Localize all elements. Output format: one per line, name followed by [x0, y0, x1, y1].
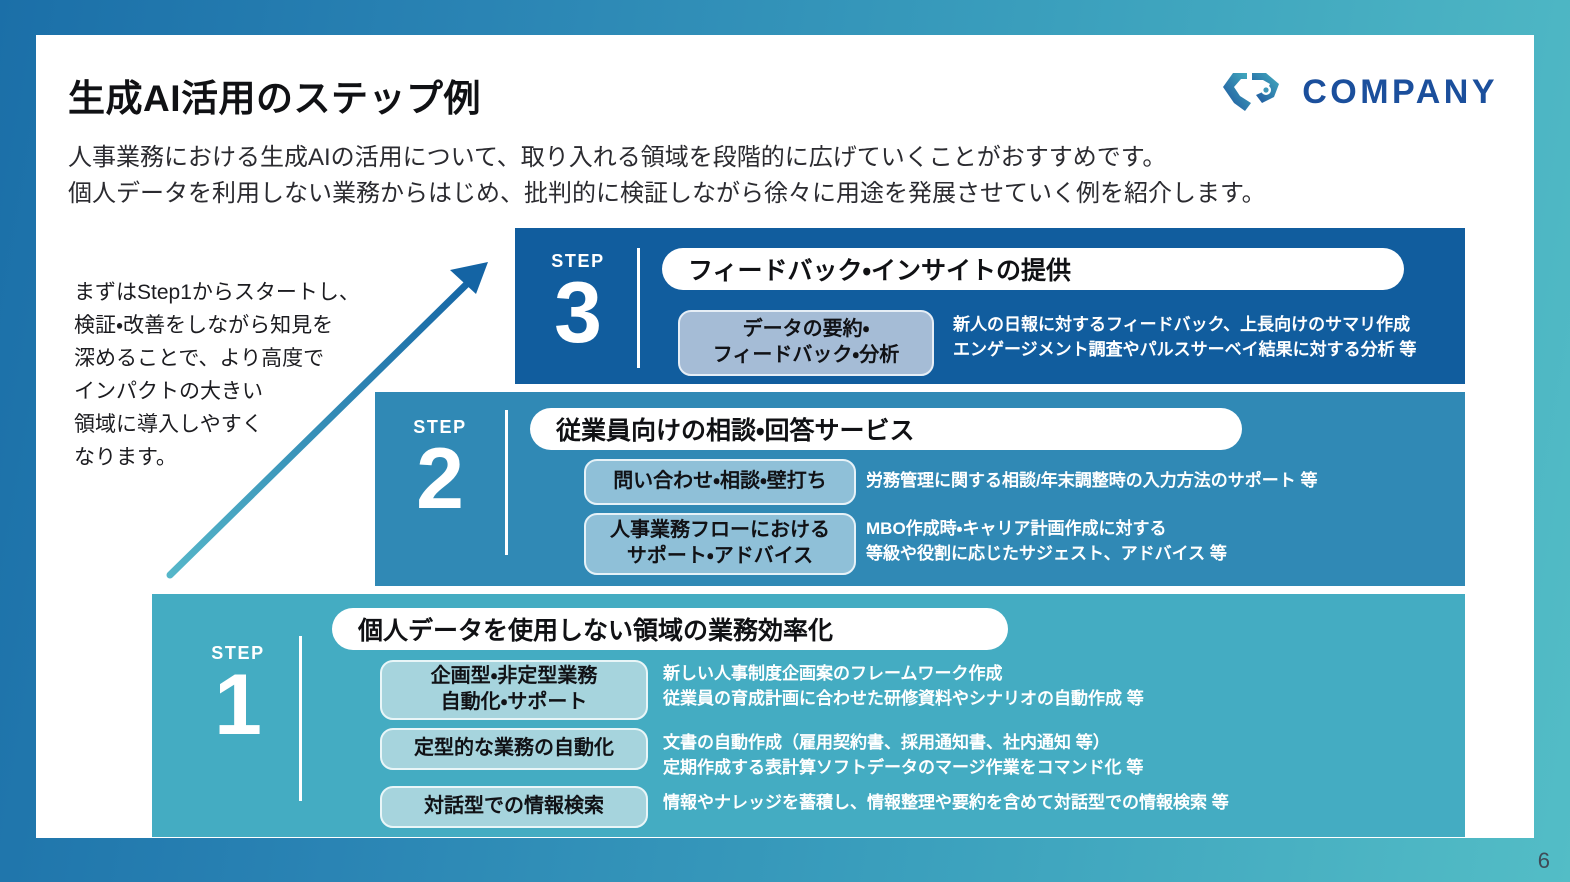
- step-1-label-group: STEP 1: [200, 644, 276, 745]
- step-2-divider: [505, 410, 508, 555]
- chip-line-1: 定型的な業務の自動化: [414, 736, 614, 762]
- step-3-divider: [637, 248, 640, 368]
- page-title: 生成AI活用のステップ例: [68, 68, 481, 122]
- chip-line-2: フィードバック・分析: [713, 343, 899, 369]
- company-logo: COMPANY: [1222, 70, 1498, 114]
- subtitle-line-2: 個人データを利用しない業務からはじめ、批判的に検証しながら徐々に用途を発展させて…: [68, 176, 1266, 212]
- step-3-label-group: STEP 3: [540, 252, 616, 353]
- step-2-label-group: STEP 2: [402, 418, 478, 519]
- logo-wordmark: COMPANY: [1302, 75, 1498, 109]
- company-chevron-logo-icon: [1222, 70, 1286, 114]
- step-1-topic-chip-2[interactable]: 定型的な業務の自動化: [380, 728, 648, 770]
- step-1-description-3: 情報やナレッジを蓄積し、情報整理や要約を含めて対話型での情報検索 等: [663, 791, 1229, 816]
- step-1-description-2: 文書の自動作成（雇用契約書、採用通知書、社内通知 等） 定期作成する表計算ソフト…: [663, 731, 1143, 780]
- step-2-topic-chip-1[interactable]: 問い合わせ・相談・壁打ち: [584, 459, 856, 505]
- chip-line-1: 企画型・非定型業務: [431, 664, 598, 690]
- step-1-divider: [299, 636, 302, 801]
- step-1-number: 1: [200, 666, 276, 745]
- chip-line-1: 対話型での情報検索: [424, 794, 604, 820]
- chip-line-1: データの要約・: [743, 317, 870, 343]
- chip-line-1: 人事業務フローにおける: [610, 518, 830, 544]
- chip-line-2: サポート・アドバイス: [627, 544, 813, 570]
- page-number: 6: [1538, 848, 1550, 874]
- step-3-topic-chip-1[interactable]: データの要約・ フィードバック・分析: [678, 310, 934, 376]
- step-3-headline: フィードバック・インサイトの提供: [662, 248, 1404, 290]
- step-1-topic-chip-1[interactable]: 企画型・非定型業務 自動化・サポート: [380, 660, 648, 720]
- step-3-number: 3: [540, 274, 616, 353]
- step-1-description-1: 新しい人事制度企画案のフレームワーク作成 従業員の育成計画に合わせた研修資料やシ…: [663, 662, 1144, 711]
- step-1-headline: 個人データを使用しない領域の業務効率化: [332, 608, 1008, 650]
- step-2-description-1: 労務管理に関する相談/年末調整時の入力方法のサポート 等: [866, 469, 1317, 494]
- step-2-headline: 従業員向けの相談・回答サービス: [530, 408, 1242, 450]
- chip-line-2: 自動化・サポート: [441, 690, 588, 716]
- step-1-topic-chip-3[interactable]: 対話型での情報検索: [380, 786, 648, 828]
- subtitle-line-1: 人事業務における生成AIの活用について、取り入れる領域を段階的に広げていくことが…: [68, 140, 1266, 176]
- chip-line-1: 問い合わせ・相談・壁打ち: [613, 469, 827, 495]
- step-3-description-1: 新人の日報に対するフィードバック、上長向けのサマリ作成 エンゲージメント調査やパ…: [953, 313, 1416, 362]
- step-2-number: 2: [402, 440, 478, 519]
- step-2-topic-chip-2[interactable]: 人事業務フローにおける サポート・アドバイス: [584, 513, 856, 575]
- intro-note: まずはStep1からスタートし、 検証・改善をしながら知見を 深めることで、より…: [74, 276, 404, 474]
- slide-subtitle: 人事業務における生成AIの活用について、取り入れる領域を段階的に広げていくことが…: [68, 140, 1266, 212]
- step-2-description-2: MBO作成時・キャリア計画作成に対する 等級や役割に応じたサジェスト、アドバイス…: [866, 517, 1227, 566]
